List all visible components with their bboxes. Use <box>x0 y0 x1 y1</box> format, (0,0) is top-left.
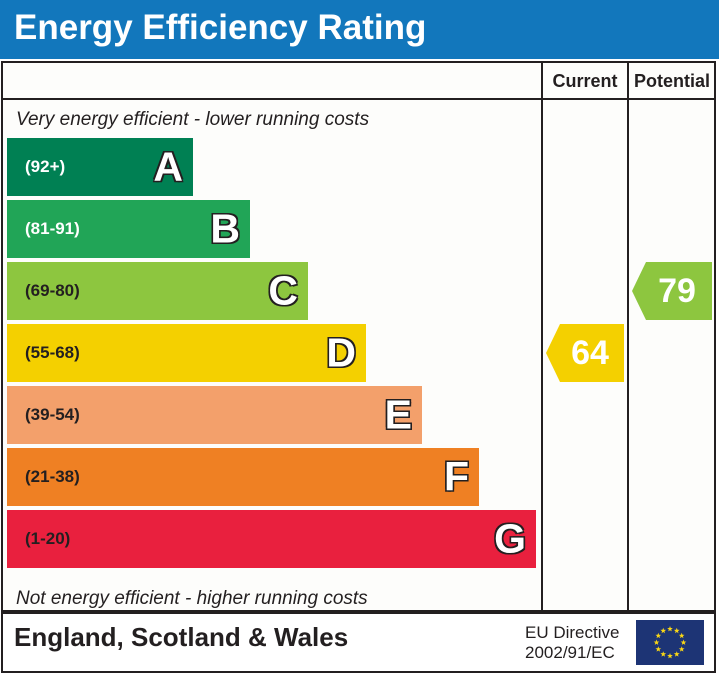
eu-flag-icon <box>636 620 704 665</box>
directive-line-2: 2002/91/EC <box>525 643 619 663</box>
band-range-g: (1-20) <box>25 529 70 549</box>
band-bar-f: (21-38)F <box>7 448 479 506</box>
divider-current <box>541 61 543 612</box>
band-bar-c: (69-80)C <box>7 262 308 320</box>
band-letter-b: B <box>210 209 240 250</box>
band-letter-a: A <box>153 147 183 188</box>
band-range-c: (69-80) <box>25 281 80 301</box>
rating-marker-current: 64 <box>546 324 624 382</box>
band-letter-d: D <box>326 333 356 374</box>
page-title: Energy Efficiency Rating <box>14 8 426 48</box>
divider-potential <box>627 61 629 612</box>
band-range-e: (39-54) <box>25 405 80 425</box>
band-bar-e: (39-54)E <box>7 386 422 444</box>
rating-value-current: 64 <box>546 336 624 370</box>
band-letter-f: F <box>444 457 469 498</box>
band-range-a: (92+) <box>25 157 65 177</box>
band-range-f: (21-38) <box>25 467 80 487</box>
footer-region-label: England, Scotland & Wales <box>14 622 348 653</box>
band-bar-g: (1-20)G <box>7 510 536 568</box>
band-letter-e: E <box>385 395 412 436</box>
directive-line-1: EU Directive <box>525 623 619 643</box>
band-bar-a: (92+)A <box>7 138 193 196</box>
band-letter-g: G <box>494 519 526 560</box>
column-header-potential: Potential <box>629 68 715 94</box>
rating-value-potential: 79 <box>632 274 712 308</box>
column-header-current: Current <box>543 68 627 94</box>
caption-top: Very energy efficient - lower running co… <box>16 109 369 131</box>
band-letter-c: C <box>268 271 298 312</box>
epc-certificate: Energy Efficiency Rating Current Potenti… <box>0 0 719 675</box>
footer-directive-label: EU Directive 2002/91/EC <box>525 623 619 663</box>
band-range-d: (55-68) <box>25 343 80 363</box>
caption-bottom: Not energy efficient - higher running co… <box>16 588 368 610</box>
title-bar: Energy Efficiency Rating <box>0 0 719 59</box>
band-bar-d: (55-68)D <box>7 324 366 382</box>
band-range-b: (81-91) <box>25 219 80 239</box>
rating-marker-potential: 79 <box>632 262 712 320</box>
band-bar-b: (81-91)B <box>7 200 250 258</box>
